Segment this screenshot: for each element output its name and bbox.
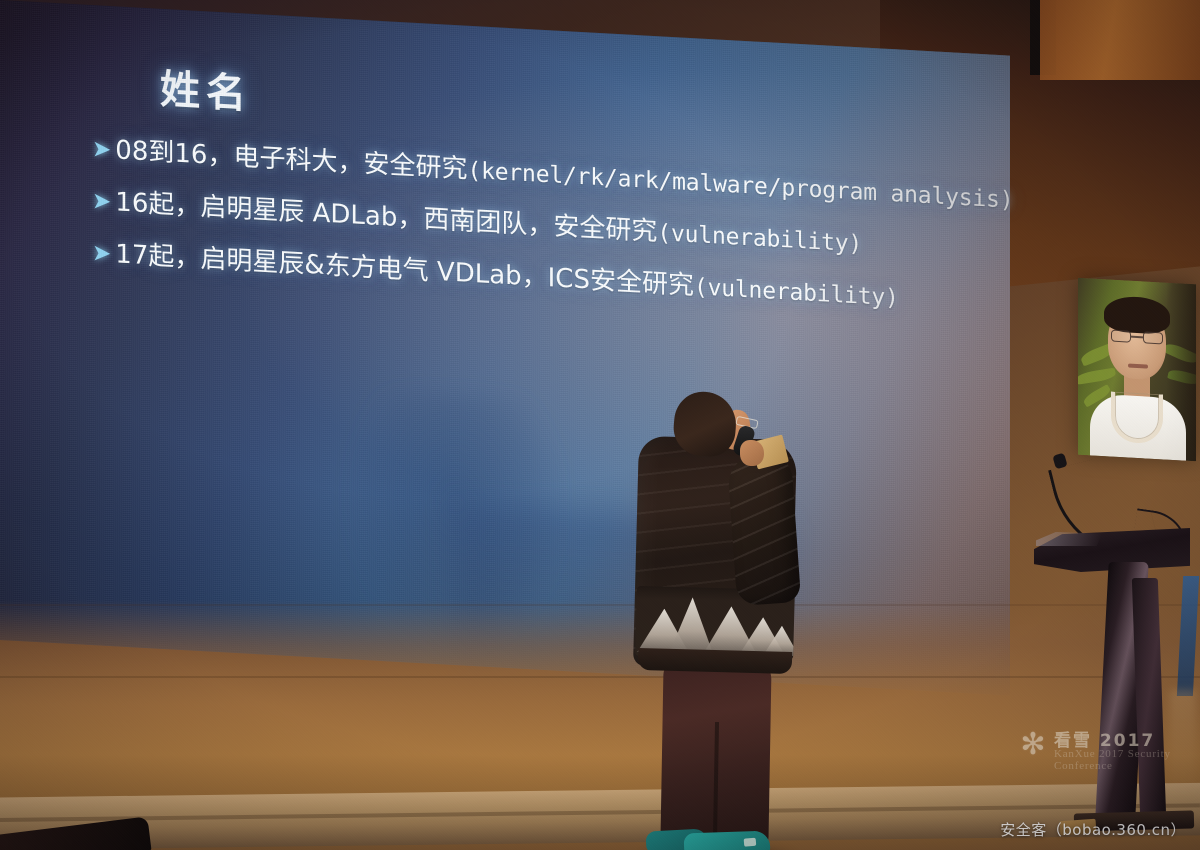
presenter xyxy=(628,392,808,850)
presenter-hair xyxy=(671,389,738,458)
event-logo: ✻ 看雪 2017 KanXue 2017 Security Conferenc… xyxy=(1016,722,1192,778)
bullet-text-prefix: 08到16，电子科大，安全研究 xyxy=(115,135,467,184)
watermark: 安全客（bobao.360.cn） xyxy=(1000,819,1186,840)
wall-seam-upper xyxy=(0,604,1200,606)
slide-bullet-list: ➤ 08到16，电子科大，安全研究(kernel/rk/ark/malware/… xyxy=(92,133,1002,338)
snowflake-icon: ✻ xyxy=(1016,726,1050,766)
jacket-hem xyxy=(638,648,793,674)
wood-panel xyxy=(1040,0,1200,80)
slide-content: 姓名 ➤ 08到16，电子科大，安全研究(kernel/rk/ark/malwa… xyxy=(0,0,1010,696)
lectern xyxy=(1030,520,1200,850)
event-logo-subtitle: KanXue 2017 Security Conference xyxy=(1054,748,1192,772)
bullet-arrow-icon: ➤ xyxy=(92,187,111,217)
bullet-text-mono: (vulnerability) xyxy=(657,220,862,257)
presenter-shoe-right xyxy=(684,831,771,850)
presenter-hand xyxy=(740,440,764,466)
speaker-headshot-inset xyxy=(1078,278,1196,462)
conference-stage-photo: 姓名 ➤ 08到16，电子科大，安全研究(kernel/rk/ark/malwa… xyxy=(0,0,1200,850)
bullet-arrow-icon: ➤ xyxy=(92,135,111,165)
lectern-screen-glow xyxy=(1177,576,1199,696)
lectern-top-highlight xyxy=(1036,532,1102,546)
bullet-arrow-icon: ➤ xyxy=(92,239,111,269)
bullet-text-mono: (kernel/rk/ark/malware/program analysis) xyxy=(467,158,1013,214)
slide-title: 姓名 xyxy=(160,57,252,120)
wall-seam-lower xyxy=(0,676,1200,678)
projected-slide: 姓名 ➤ 08到16，电子科大，安全研究(kernel/rk/ark/malwa… xyxy=(0,0,1010,696)
bullet-text-prefix: 17起，启明星辰&东方电气 VDLab，ICS安全研究 xyxy=(115,239,694,301)
presenter-arm xyxy=(727,452,801,606)
bullet-text-prefix: 16起，启明星辰 ADLab，西南团队，安全研究 xyxy=(115,187,657,247)
bullet-text-mono: (vulnerability) xyxy=(694,274,899,311)
slide-vignette xyxy=(0,0,1010,696)
